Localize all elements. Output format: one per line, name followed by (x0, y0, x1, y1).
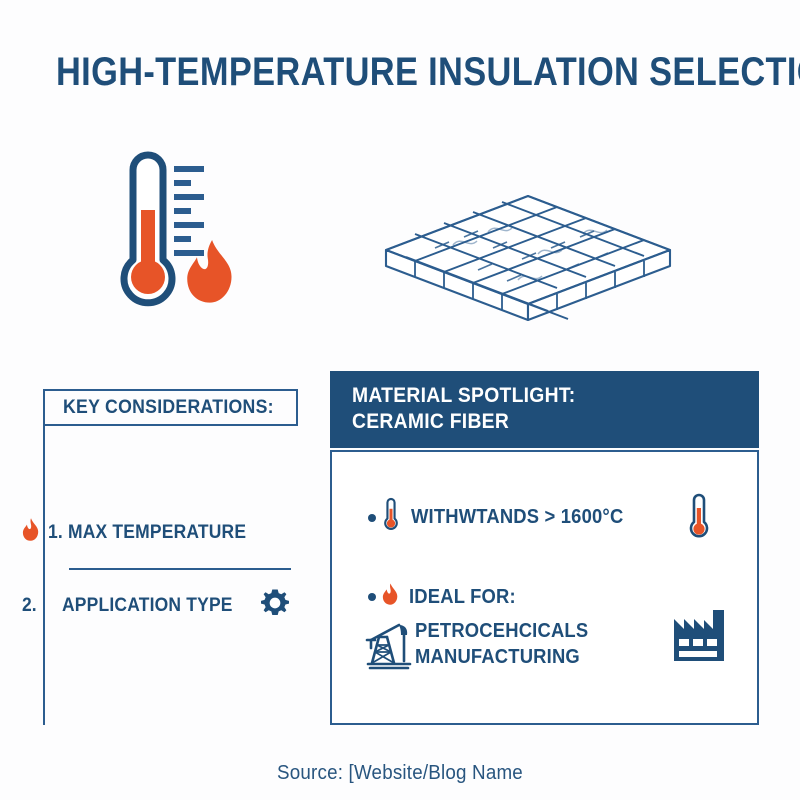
infographic-canvas: HIGH-TEMPERATURE INSULATION SELECTION (0, 0, 800, 800)
key-considerations-heading: KEY CONSIDERATIONS: (63, 397, 274, 419)
thermometer-icon (383, 496, 399, 539)
bullet-dot-icon (368, 514, 376, 522)
spotlight-heading-line-1: MATERIAL SPOTLIGHT: (352, 383, 726, 409)
key-considerations-header: KEY CONSIDERATIONS: (45, 389, 298, 426)
key-consideration-item-2[interactable]: 2. APPLICATION TYPE (22, 589, 289, 622)
material-spotlight-header: MATERIAL SPOTLIGHT: CERAMIC FIBER (330, 371, 759, 448)
spotlight-bullet-2-text: IDEAL FOR: (409, 586, 516, 609)
oil-pump-jack-icon (365, 617, 415, 672)
flame-icon (22, 518, 40, 547)
application-line-1: PETROCEHCICALS (415, 618, 588, 644)
spotlight-bullet-2: IDEAL FOR: (368, 583, 525, 611)
thermometer-icon (688, 492, 710, 544)
factory-icon (663, 608, 725, 666)
spotlight-applications: PETROCEHCICALS MANUFACTURING (415, 618, 603, 670)
spotlight-bullet-1: WITHWTANDS > 1600°C (368, 496, 642, 539)
key-considerations-box: KEY CONSIDERATIONS: (43, 389, 300, 725)
key-consideration-2-number: 2. (22, 595, 37, 617)
spotlight-heading-line-2: CERAMIC FIBER (352, 409, 726, 435)
key-consideration-2-label: APPLICATION TYPE (62, 595, 233, 617)
thermometer-flame-icon (96, 148, 246, 323)
application-line-2: MANUFACTURING (415, 644, 588, 670)
page-title: HIGH-TEMPERATURE INSULATION SELECTION (56, 50, 744, 95)
spotlight-bullet-1-text: WITHWTANDS > 1600°C (411, 506, 623, 529)
ceramic-fiber-board-icon (378, 188, 678, 333)
source-caption: Source: [Website/Blog Name (24, 762, 776, 785)
key-consideration-1-label: 1. MAX TEMPERATURE (48, 522, 246, 544)
gear-icon[interactable] (261, 589, 289, 622)
bullet-dot-icon (368, 593, 376, 601)
flame-icon (382, 583, 399, 611)
key-consideration-item-1[interactable]: 1. MAX TEMPERATURE (22, 518, 263, 547)
key-considerations-divider (69, 568, 291, 570)
